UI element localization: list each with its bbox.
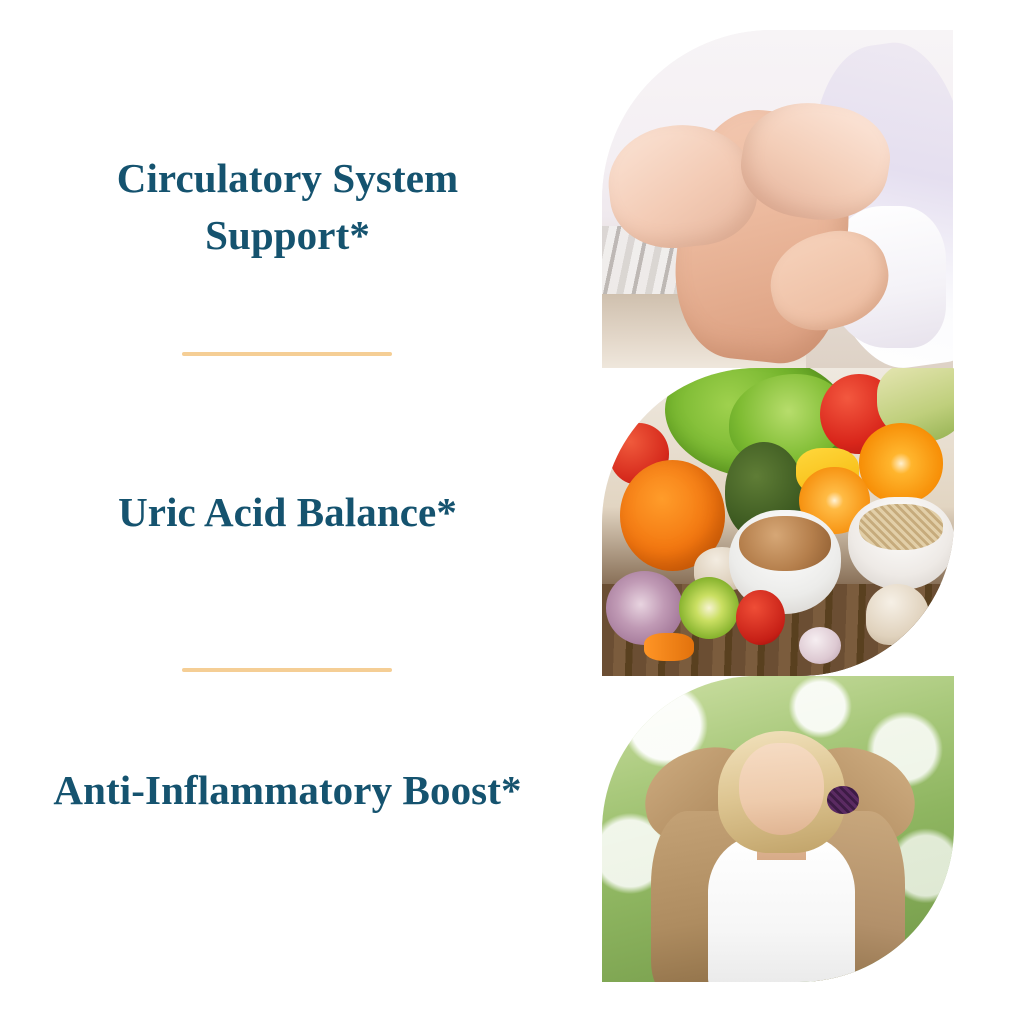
orange-slice-shape [859, 423, 943, 503]
benefit-item-anti-inflammatory-boost: Anti-Inflammatory Boost* [0, 762, 575, 819]
benefit-title: Anti-Inflammatory Boost* [0, 762, 575, 819]
kiwi-shape [679, 577, 739, 639]
benefit-divider [182, 352, 392, 356]
woman-stretching-artwork [602, 676, 954, 982]
cherry-tomato-shape [736, 590, 785, 645]
healthy-foods-artwork [602, 368, 954, 676]
mushroom-shape [866, 584, 929, 646]
benefits-text-column: Circulatory System Support* Uric Acid Ba… [0, 0, 575, 1024]
benefits-panel: Circulatory System Support* Uric Acid Ba… [0, 0, 1024, 1024]
benefit-divider [182, 668, 392, 672]
benefit-title: Circulatory System Support* [0, 150, 575, 263]
healthy-foods-photo [602, 368, 954, 676]
benefits-image-column [602, 0, 1024, 1024]
foot-massage-artwork [602, 30, 953, 368]
bracelet-shape [827, 786, 859, 814]
woman-stretching-photo [602, 676, 954, 982]
benefit-item-uric-acid-balance: Uric Acid Balance* [0, 484, 575, 541]
almonds-shape [739, 516, 831, 571]
benefit-title: Uric Acid Balance* [0, 484, 575, 541]
benefit-item-circulatory-system-support: Circulatory System Support* [0, 150, 575, 263]
oats-shape [859, 504, 943, 550]
foot-massage-photo [602, 30, 953, 368]
carrot-shape [644, 633, 693, 661]
face-shape [739, 743, 823, 835]
garlic-shape [799, 627, 841, 664]
